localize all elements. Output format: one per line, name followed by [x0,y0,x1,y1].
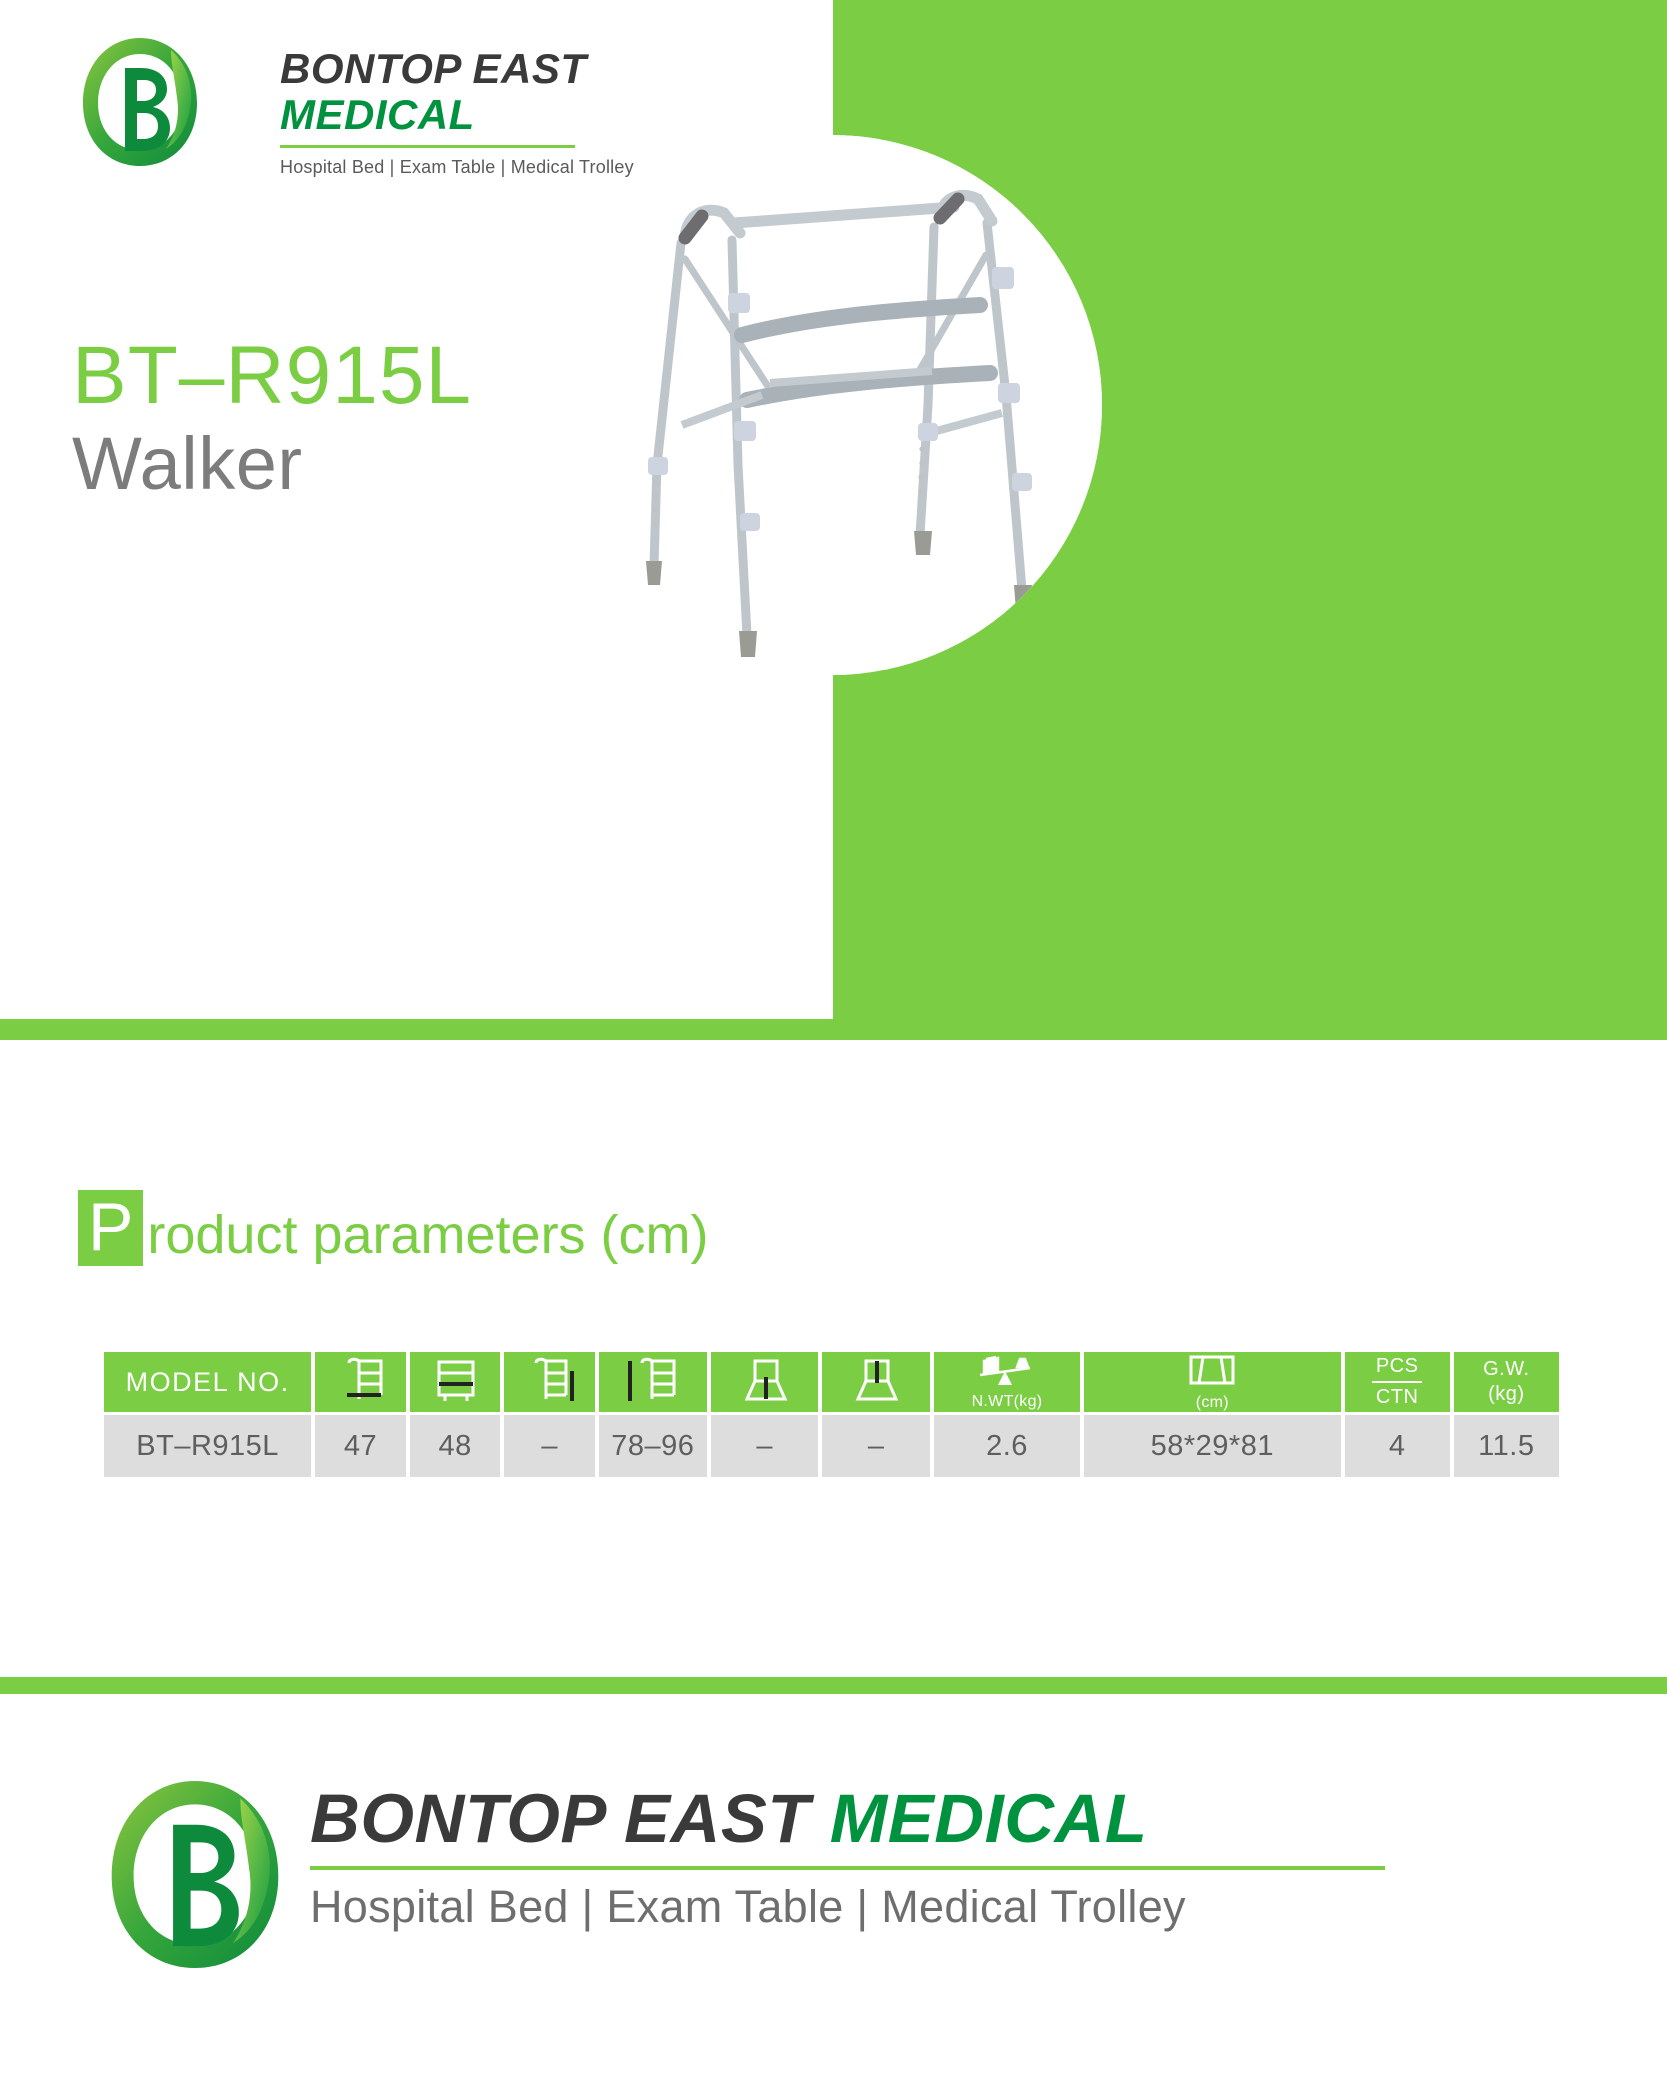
column-header-depth [504,1352,595,1412]
cell-front-width: 48 [410,1415,501,1477]
footer-bontop-b-logo-icon [100,1772,290,1977]
table-header-row: MODEL NO. [104,1352,1559,1412]
column-header-leg-height [711,1352,819,1412]
brand-name-primary: BONTOP EAST [280,46,634,92]
cell-overall-width: 47 [315,1415,406,1477]
walker-depth-right-icon [518,1392,582,1409]
cell-model: BT–R915L [104,1415,311,1477]
hero-left-accent-bar [0,1019,833,1040]
column-header-pcs-ctn: PCS CTN [1345,1352,1450,1412]
walker-leg-height-alt-icon [844,1392,908,1409]
product-title-block: BT–R915L Walker [72,333,472,505]
hero-section: BONTOP EAST MEDICAL Hospital Bed | Exam … [0,0,1667,1040]
cell-leg-height-alt: – [822,1415,930,1477]
column-header-overall-width [315,1352,406,1412]
cell-leg-height: – [711,1415,819,1477]
gw-label: G.W. [1454,1357,1559,1382]
walker-width-icon [329,1392,393,1409]
walker-height-left-icon [618,1392,688,1409]
cell-depth: – [504,1415,595,1477]
footer-divider [310,1866,1385,1870]
product-model: BT–R915L [72,333,472,419]
cell-net-weight: 2.6 [934,1415,1080,1477]
column-header-leg-height-alt [822,1352,930,1412]
footer-separator-bar [0,1677,1667,1694]
header-logo: BONTOP EAST MEDICAL Hospital Bed | Exam … [75,32,595,197]
column-header-net-weight: N.WT(kg) [934,1352,1080,1412]
ctn-label: CTN [1372,1383,1423,1410]
brand-name-secondary: MEDICAL [280,92,634,138]
footer-tagline: Hospital Bed | Exam Table | Medical Trol… [310,1880,1385,1934]
pcs-label: PCS [1372,1354,1423,1383]
net-weight-caption: N.WT(kg) [972,1393,1043,1411]
walker-leg-height-icon [733,1392,797,1409]
table-row: BT–R915L 47 48 – 78–96 – – 2.6 58*29*81 … [104,1415,1559,1477]
brand-divider [280,145,575,148]
footer-brand-primary: BONTOP EAST [310,1780,830,1857]
parameters-heading-initial: P [78,1190,143,1266]
product-name: Walker [72,423,472,505]
column-header-front-width [410,1352,501,1412]
product-photo-circle [562,135,1102,675]
walker-product-image [562,135,1102,675]
column-header-carton-size: (cm) [1084,1352,1341,1412]
footer-brand-secondary: MEDICAL [830,1780,1148,1857]
parameters-heading-rest: roduct parameters (cm) [147,1204,708,1266]
column-header-model: MODEL NO. [104,1352,311,1412]
header-logo-text: BONTOP EAST MEDICAL Hospital Bed | Exam … [280,46,634,178]
scale-weight-icon [972,1353,1042,1392]
cell-gross-weight: 11.5 [1454,1415,1559,1477]
footer-brand-name: BONTOP EAST MEDICAL [310,1782,1385,1856]
footer-logo-text: BONTOP EAST MEDICAL Hospital Bed | Exam … [310,1782,1385,1934]
gw-unit-label: (kg) [1454,1382,1559,1407]
cell-pcs-ctn: 4 [1345,1415,1450,1477]
carton-size-caption: (cm) [1196,1394,1229,1412]
bontop-b-logo-icon [75,32,205,172]
carton-box-icon [1181,1352,1243,1393]
brand-tagline: Hospital Bed | Exam Table | Medical Trol… [280,157,634,178]
column-header-model-label: MODEL NO. [126,1367,290,1397]
cell-height-range: 78–96 [599,1415,707,1477]
footer-section: BONTOP EAST MEDICAL Hospital Bed | Exam … [0,1694,1667,2077]
parameters-heading: P roduct parameters (cm) [78,1196,709,1266]
column-header-height-range [599,1352,707,1412]
cell-carton-size: 58*29*81 [1084,1415,1341,1477]
product-parameters-table: MODEL NO. [100,1349,1563,1480]
walker-front-width-icon [423,1392,487,1409]
column-header-gross-weight: G.W. (kg) [1454,1352,1559,1412]
